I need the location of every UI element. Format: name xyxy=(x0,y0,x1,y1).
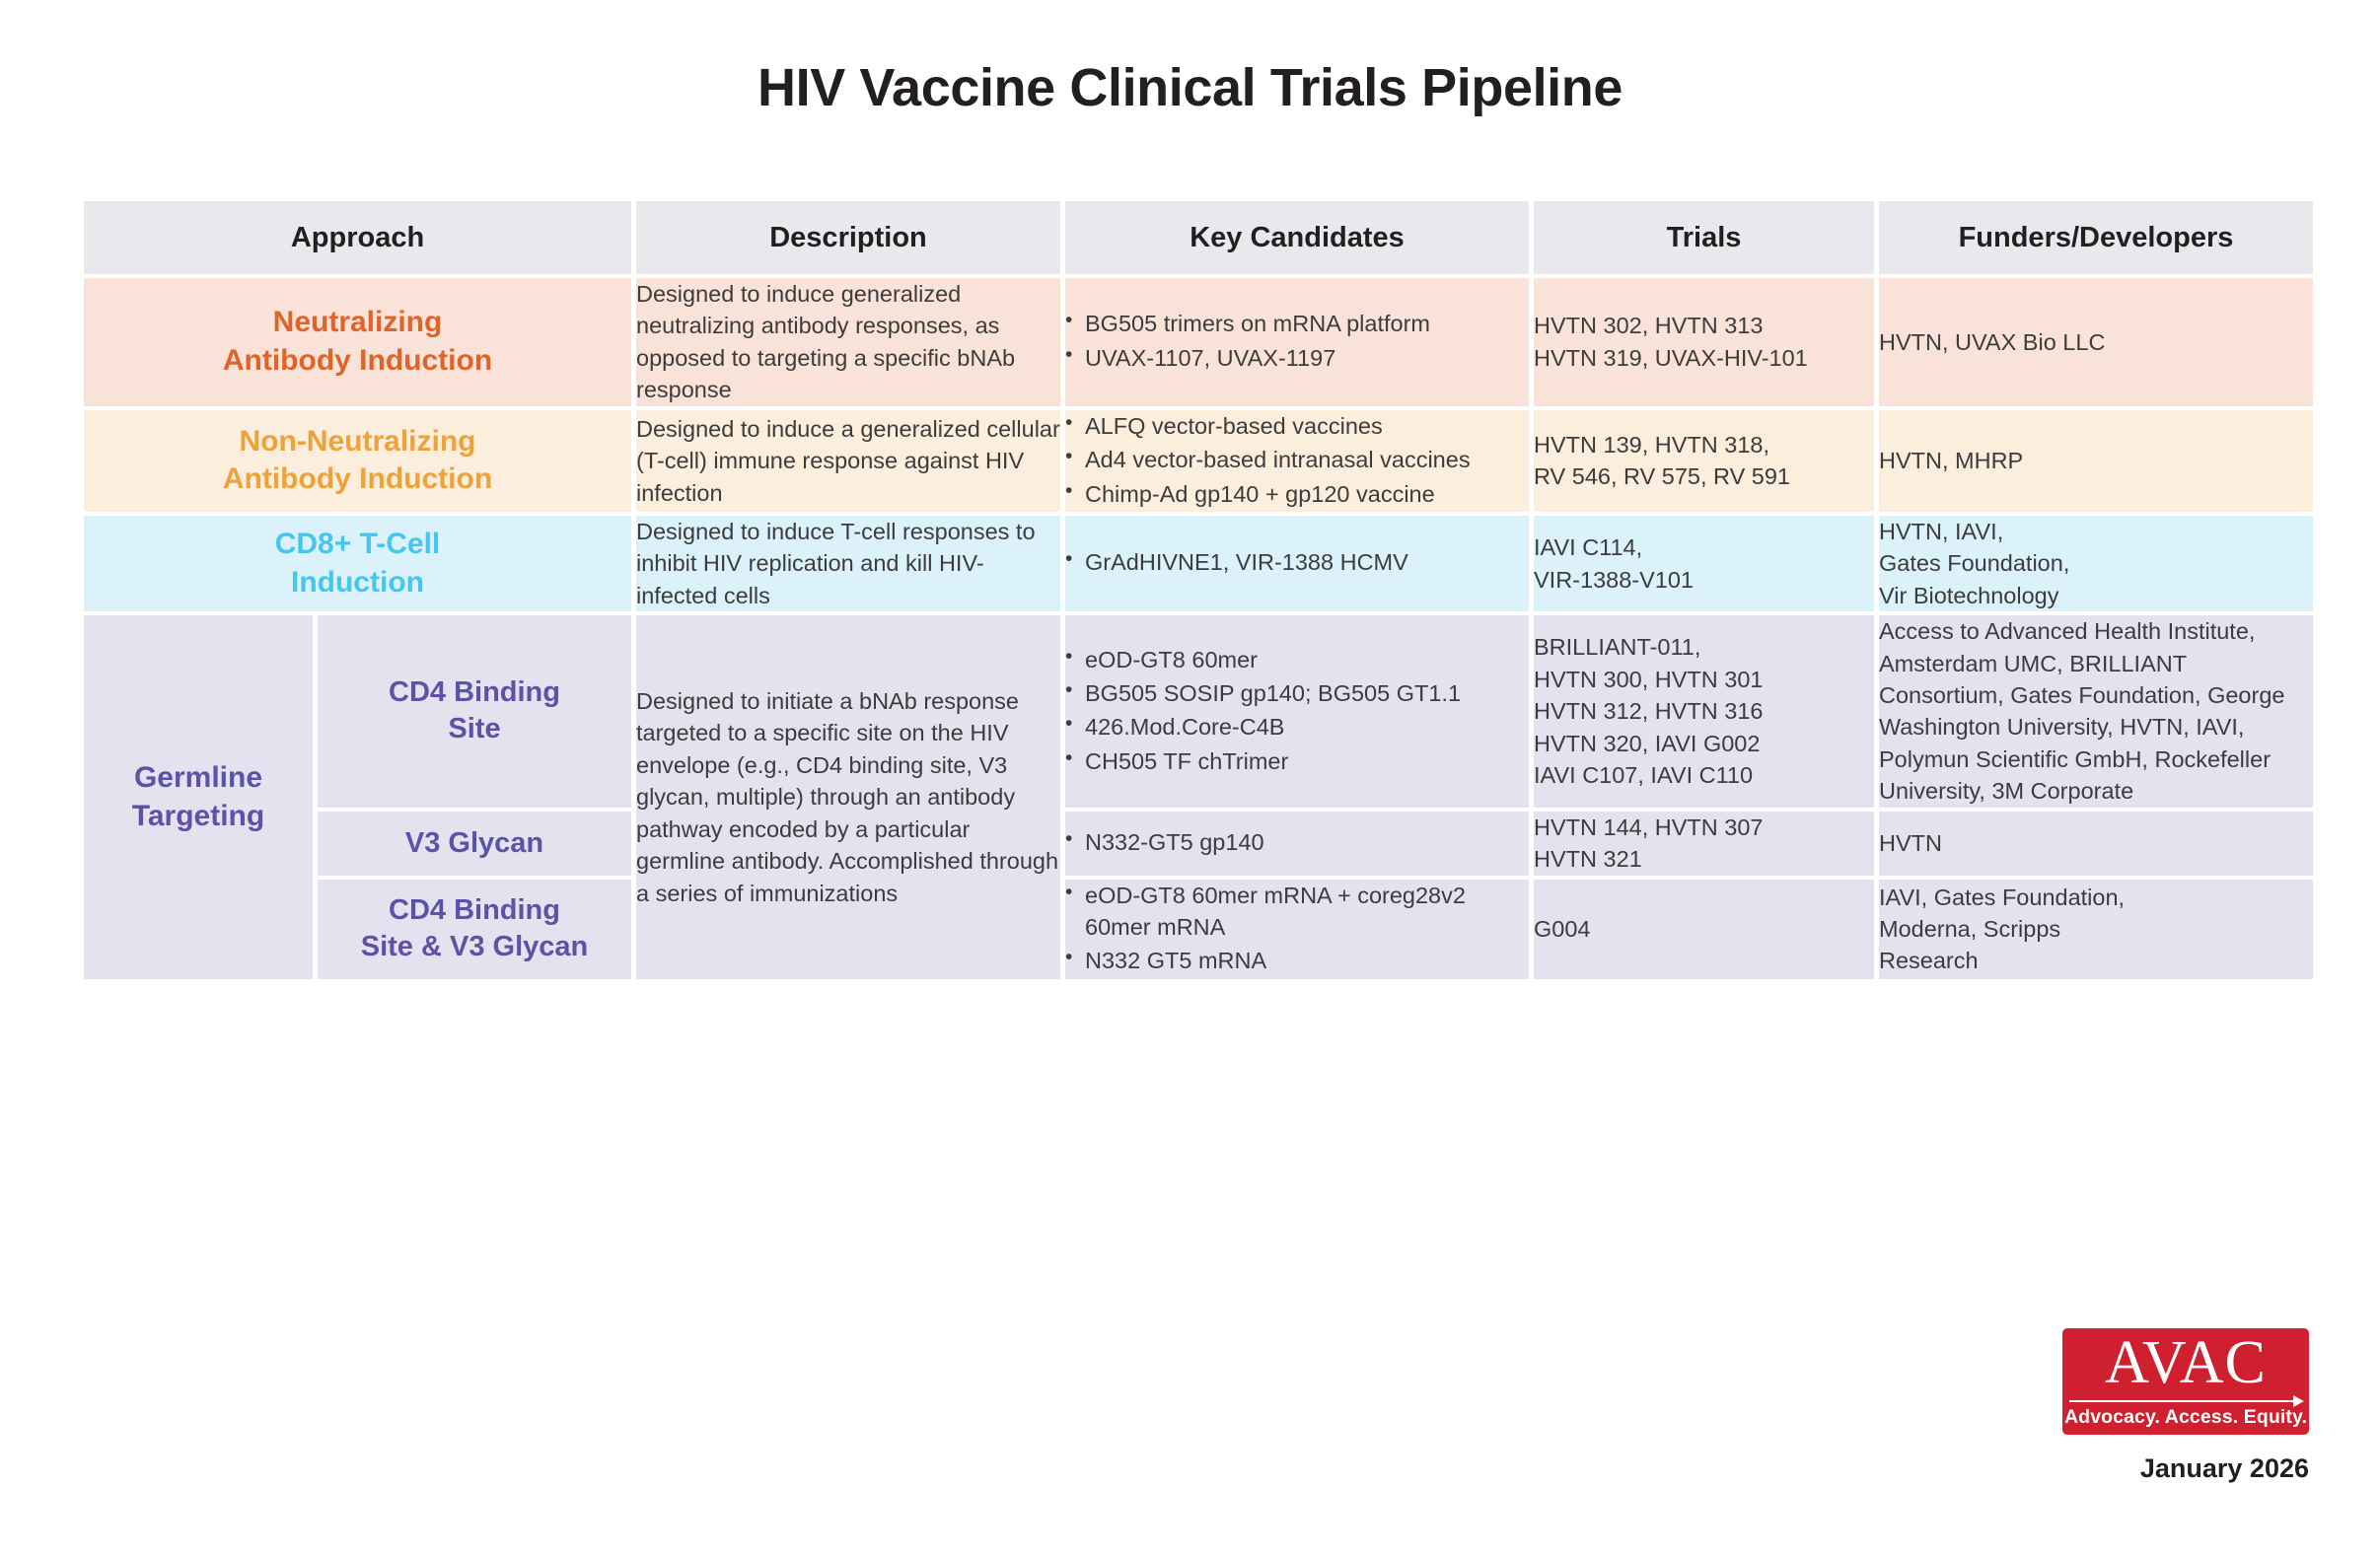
trials-neutralizing: HVTN 302, HVTN 313HVTN 319, UVAX-HIV-101 xyxy=(1534,278,1874,406)
funders-cd8-tcell: HVTN, IAVI,Gates Foundation,Vir Biotechn… xyxy=(1879,516,2313,611)
candidate-list: BG505 trimers on mRNA platformUVAX-1107,… xyxy=(1065,308,1529,374)
candidate-item: ALFQ vector-based vaccines xyxy=(1065,410,1529,442)
table-row-germline-cd4bs-v3glycan: CD4 BindingSite & V3 Glycan eOD-GT8 60me… xyxy=(84,880,2313,979)
candidates-v3-glycan: N332-GT5 gp140 xyxy=(1065,812,1529,876)
funders-non-neutralizing: HVTN, MHRP xyxy=(1879,410,2313,512)
candidate-item: 426.Mod.Core-C4B xyxy=(1065,711,1529,743)
funders-v3-glycan: HVTN xyxy=(1879,812,2313,876)
candidates-cd8-tcell: GrAdHIVNE1, VIR-1388 HCMV xyxy=(1065,516,1529,611)
avac-tagline: Advocacy. Access. Equity. xyxy=(2062,1406,2309,1429)
approach-label-neutralizing: NeutralizingAntibody Induction xyxy=(84,278,631,406)
description-cd8-tcell: Designed to induce T-cell responses to i… xyxy=(636,516,1060,611)
approach-label-cd8-tcell: CD8+ T-CellInduction xyxy=(84,516,631,611)
candidate-item: GrAdHIVNE1, VIR-1388 HCMV xyxy=(1065,546,1529,578)
subcategory-label-cd4-binding-site: CD4 BindingSite xyxy=(318,615,631,808)
avac-logo: AVAC Advocacy. Access. Equity. xyxy=(2062,1328,2309,1435)
trials-non-neutralizing: HVTN 139, HVTN 318,RV 546, RV 575, RV 59… xyxy=(1534,410,1874,512)
column-header-key-candidates: Key Candidates xyxy=(1065,201,1529,274)
table-row-cd8-tcell: CD8+ T-CellInduction Designed to induce … xyxy=(84,516,2313,611)
candidate-item: N332-GT5 gp140 xyxy=(1065,826,1529,858)
trials-cd4-binding-site: BRILLIANT-011,HVTN 300, HVTN 301HVTN 312… xyxy=(1534,615,1874,808)
table-row-germline-v3glycan: V3 Glycan N332-GT5 gp140 HVTN 144, HVTN … xyxy=(84,812,2313,876)
approach-label-non-neutralizing: Non-NeutralizingAntibody Induction xyxy=(84,410,631,512)
approach-label-germline-targeting: GermlineTargeting xyxy=(84,615,313,979)
table-row-non-neutralizing: Non-NeutralizingAntibody Induction Desig… xyxy=(84,410,2313,512)
funders-cd4bs-v3glycan: IAVI, Gates Foundation,Moderna, ScrippsR… xyxy=(1879,880,2313,979)
candidate-item: BG505 SOSIP gp140; BG505 GT1.1 xyxy=(1065,677,1529,709)
avac-rule-line xyxy=(2069,1400,2302,1402)
candidates-neutralizing: BG505 trimers on mRNA platformUVAX-1107,… xyxy=(1065,278,1529,406)
page-title: HIV Vaccine Clinical Trials Pipeline xyxy=(0,57,2380,118)
candidate-list: N332-GT5 gp140 xyxy=(1065,826,1529,858)
column-header-trials: Trials xyxy=(1534,201,1874,274)
column-header-description: Description xyxy=(636,201,1060,274)
funders-cd4-binding-site: Access to Advanced Health Institute, Ams… xyxy=(1879,615,2313,808)
candidate-item: N332 GT5 mRNA xyxy=(1065,945,1529,976)
trials-v3-glycan: HVTN 144, HVTN 307HVTN 321 xyxy=(1534,812,1874,876)
table-header-row: Approach Description Key Candidates Tria… xyxy=(84,201,2313,274)
trials-cd4bs-v3glycan: G004 xyxy=(1534,880,1874,979)
description-germline-targeting: Designed to initiate a bNAb response tar… xyxy=(636,615,1060,979)
description-neutralizing: Designed to induce generalized neutraliz… xyxy=(636,278,1060,406)
column-header-funders: Funders/Developers xyxy=(1879,201,2313,274)
table-body: NeutralizingAntibody Induction Designed … xyxy=(84,278,2313,979)
candidates-cd4bs-v3glycan: eOD-GT8 60mer mRNA + coreg28v2 60mer mRN… xyxy=(1065,880,1529,979)
candidate-item: Chimp-Ad gp140 + gp120 vaccine xyxy=(1065,478,1529,510)
candidate-list: GrAdHIVNE1, VIR-1388 HCMV xyxy=(1065,546,1529,578)
subcategory-label-cd4-binding-site-and-v3-glycan: CD4 BindingSite & V3 Glycan xyxy=(318,880,631,979)
candidate-list: ALFQ vector-based vaccinesAd4 vector-bas… xyxy=(1065,410,1529,510)
candidate-list: eOD-GT8 60merBG505 SOSIP gp140; BG505 GT… xyxy=(1065,644,1529,778)
description-non-neutralizing: Designed to induce a generalized cellula… xyxy=(636,410,1060,512)
candidates-cd4-binding-site: eOD-GT8 60merBG505 SOSIP gp140; BG505 GT… xyxy=(1065,615,1529,808)
candidate-item: eOD-GT8 60mer xyxy=(1065,644,1529,675)
table-row-germline-cd4bs: GermlineTargeting CD4 BindingSite Design… xyxy=(84,615,2313,808)
publication-date: January 2026 xyxy=(2062,1453,2309,1484)
pipeline-infographic: HIV Vaccine Clinical Trials Pipeline App… xyxy=(0,0,2380,1557)
candidate-item: UVAX-1107, UVAX-1197 xyxy=(1065,342,1529,374)
candidate-item: eOD-GT8 60mer mRNA + coreg28v2 60mer mRN… xyxy=(1065,880,1529,944)
subcategory-label-v3-glycan: V3 Glycan xyxy=(318,812,631,876)
candidate-item: BG505 trimers on mRNA platform xyxy=(1065,308,1529,339)
avac-wordmark: AVAC xyxy=(2062,1332,2309,1394)
candidate-list: eOD-GT8 60mer mRNA + coreg28v2 60mer mRN… xyxy=(1065,880,1529,977)
table-row-neutralizing: NeutralizingAntibody Induction Designed … xyxy=(84,278,2313,406)
trials-cd8-tcell: IAVI C114,VIR-1388-V101 xyxy=(1534,516,1874,611)
funders-neutralizing: HVTN, UVAX Bio LLC xyxy=(1879,278,2313,406)
candidate-item: CH505 TF chTrimer xyxy=(1065,745,1529,777)
candidate-item: Ad4 vector-based intranasal vaccines xyxy=(1065,444,1529,475)
column-header-approach: Approach xyxy=(84,201,631,274)
candidates-non-neutralizing: ALFQ vector-based vaccinesAd4 vector-bas… xyxy=(1065,410,1529,512)
pipeline-table: Approach Description Key Candidates Tria… xyxy=(79,197,2318,983)
